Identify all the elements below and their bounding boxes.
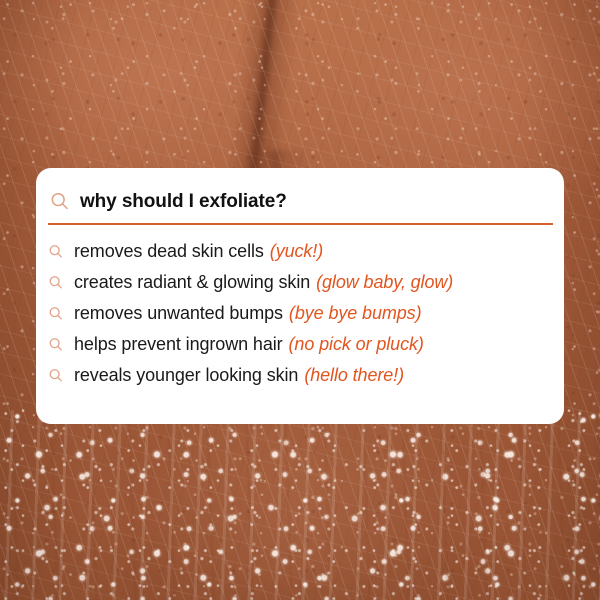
benefit-note: (glow baby, glow) [316, 272, 453, 293]
benefit-text: removes dead skin cells [74, 241, 264, 262]
list-item: removes unwanted bumps (bye bye bumps) [47, 298, 564, 329]
list-item: reveals younger looking skin (hello ther… [47, 360, 564, 391]
search-icon [47, 336, 65, 354]
card-header: why should I exfoliate? [36, 190, 564, 214]
benefit-note: (hello there!) [304, 365, 404, 386]
benefit-text: reveals younger looking skin [74, 365, 298, 386]
list-item: creates radiant & glowing skin (glow bab… [47, 267, 564, 298]
benefit-note: (bye bye bumps) [289, 303, 422, 324]
benefit-note: (no pick or pluck) [289, 334, 424, 355]
benefit-text: helps prevent ingrown hair [74, 334, 283, 355]
search-icon [47, 274, 65, 292]
benefits-list: removes dead skin cells (yuck!) creates … [36, 225, 564, 391]
search-icon [48, 190, 72, 214]
benefit-note: (yuck!) [270, 241, 323, 262]
benefits-card: why should I exfoliate? removes dead ski… [36, 168, 564, 424]
list-item: helps prevent ingrown hair (no pick or p… [47, 329, 564, 360]
list-item: removes dead skin cells (yuck!) [47, 236, 564, 267]
page-title: why should I exfoliate? [80, 191, 287, 213]
search-icon [47, 243, 65, 261]
promo-image: why should I exfoliate? removes dead ski… [0, 0, 600, 600]
search-icon [47, 305, 65, 323]
benefit-text: creates radiant & glowing skin [74, 272, 310, 293]
search-icon [47, 367, 65, 385]
benefit-text: removes unwanted bumps [74, 303, 283, 324]
